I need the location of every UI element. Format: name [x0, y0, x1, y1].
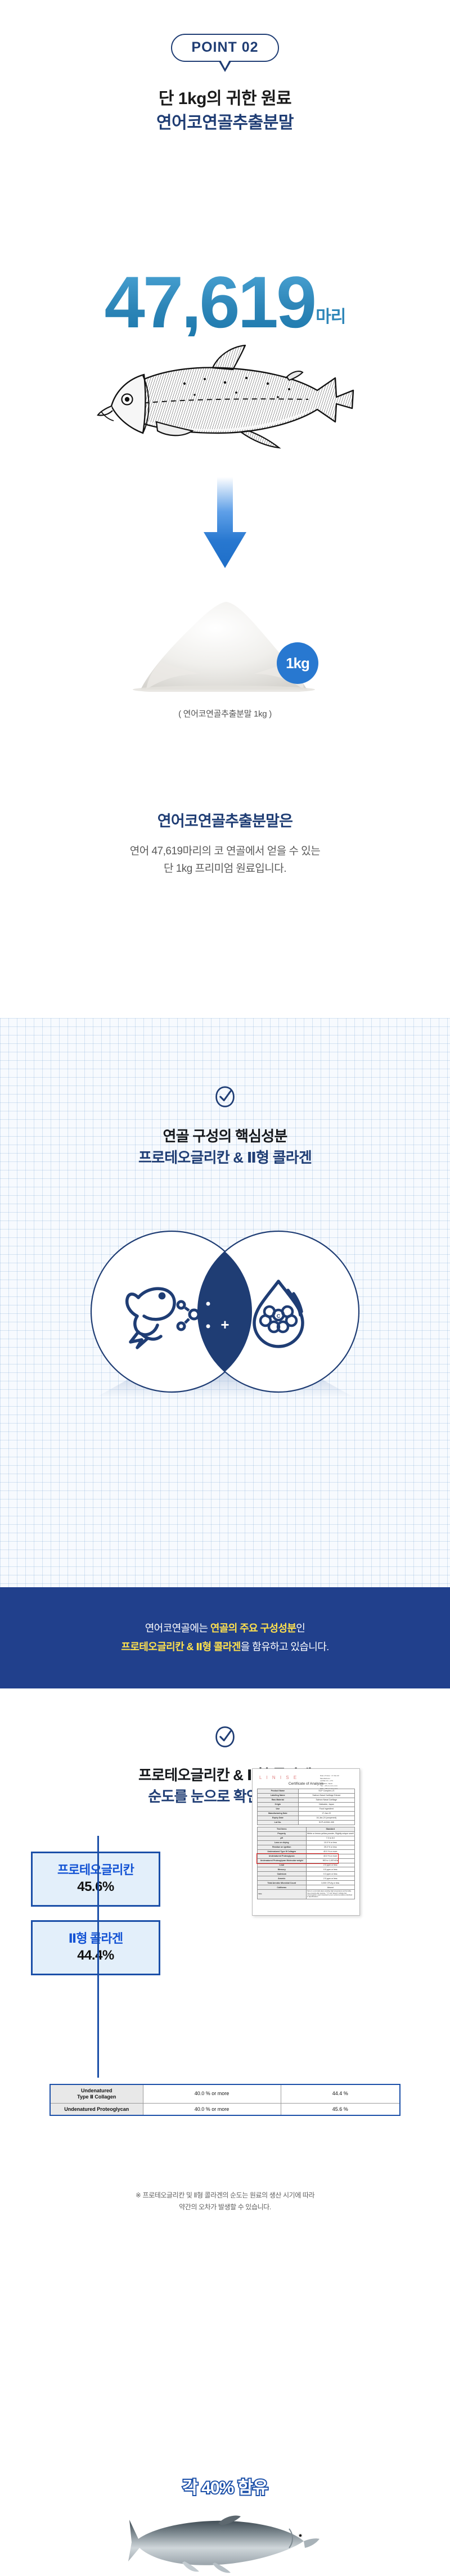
coa-key: Residue on ignition	[258, 1845, 307, 1849]
coa-val: 40.0 % or more	[306, 1849, 355, 1854]
table-row: Lead2.0 ppm or less	[258, 1863, 355, 1867]
venn-plus-sign: +	[220, 1316, 229, 1333]
coa-key: Loss on drying	[258, 1840, 307, 1845]
salmon-illustration-icon	[72, 343, 387, 456]
detail-standard: 40.0 % or more	[143, 2103, 281, 2115]
table-row-highlight: Undenatured Type Ⅱ Collagen40.0 % or mor…	[258, 1849, 355, 1854]
core-ingredients-heading: 연골 구성의 핵심성분 프로테오글리칸 & Ⅱ형 콜라겐	[0, 1018, 450, 1168]
callout-connector-line	[97, 1836, 99, 2078]
coa-val: 25.0 % or less	[306, 1845, 355, 1849]
coa-th-item: Test Items	[258, 1827, 307, 1831]
coa-val: Food ingredient	[298, 1807, 354, 1811]
coa-key: Raw Material	[258, 1798, 299, 1802]
table-row: Lot No.SCP-AO061-005	[258, 1820, 355, 1825]
down-arrow-icon	[201, 477, 249, 569]
coa-val: 17-Jan-22	[298, 1811, 354, 1816]
table-row: PropertyWhite or lemon-yellow powder, Sl…	[258, 1831, 355, 1836]
table-row: Expiry Date16-Jan-24 (unopened)	[258, 1816, 355, 1820]
closing-line-1: 연어 47,619마리의 코 연골에서 얻을 수 있는	[0, 843, 450, 861]
coa-key: Product Name	[258, 1789, 299, 1794]
coa-info-table: Product NameSCP Complex-LS Labeling Name…	[257, 1789, 355, 1825]
certificate-of-analysis-card: L I N I S E Certificate of Analysis Date…	[252, 1768, 360, 1916]
big-number-unit: 마리	[316, 303, 345, 336]
stat-value: 44.4%	[77, 1948, 114, 1963]
banner-text-c: 인	[296, 1623, 305, 1634]
headline-line-2: 연어코연골추출분말	[0, 111, 450, 136]
table-row: Labeling NameSalmon Nasal Cartilage Extr…	[258, 1793, 355, 1798]
core-heading-line-2: 프로테오글리칸 & Ⅱ형 콜라겐	[0, 1147, 450, 1169]
salmon-photo	[128, 2509, 322, 2576]
stat-title: 프로테오글리칸	[57, 1863, 134, 1877]
table-row: ColiformsAbsent	[258, 1885, 355, 1890]
coa-key: Note	[258, 1890, 307, 1899]
coa-key: Lead	[258, 1863, 307, 1867]
banner-line-2: 프로테오글리칸 & Ⅱ형 콜라겐을 함유하고 있습니다.	[121, 1638, 328, 1656]
kg-badge: 1kg	[277, 642, 318, 684]
point-badge: POINT 02	[171, 34, 278, 62]
table-row: pH7.0 to 8.0	[258, 1836, 355, 1840]
coa-key: Use	[258, 1807, 299, 1811]
powder-caption: ( 연어코연골추출분말 1kg )	[0, 708, 450, 719]
coa-key: Total Aerobic Microbial Count	[258, 1881, 307, 1885]
table-row: Undenatured Proteoglycan Molecular weigh…	[258, 1858, 355, 1863]
navy-banner: 연어코연골에는 연골의 주요 구성성분인 프로테오글리칸 & Ⅱ형 콜라겐을 함…	[0, 1587, 450, 1688]
closing-line-2: 단 1kg 프리미엄 원료입니다.	[0, 861, 450, 878]
coa-val: 0.5 ppm or less	[306, 1867, 355, 1872]
coa-val: SCP-AO061-005	[298, 1820, 354, 1825]
detail-item: Undenatured Type Ⅱ Collagen	[50, 2084, 143, 2103]
coa-val: Hokkaido, Japan	[298, 1802, 354, 1807]
stat-value: 45.6%	[77, 1879, 114, 1895]
table-row: Undenatured Proteoglycan 40.0 % or more …	[50, 2103, 400, 2115]
coa-val: Salmon Nasal Cartilage Extract	[298, 1793, 354, 1798]
table-row-note: NoteStore in a cool dark place avoiding …	[258, 1890, 355, 1899]
purity-section: 프로테오글리칸 & Ⅱ형 콜라겐 순도를 눈으로 확인하세요. 프로테오글리칸 …	[0, 1688, 450, 2453]
check-circle-icon	[214, 1086, 236, 1108]
detail-result: 44.4 %	[281, 2084, 400, 2103]
banner-text-d: 을 함유하고 있습니다.	[241, 1641, 329, 1652]
coa-val: 2.0 ppm or less	[306, 1876, 355, 1881]
table-row: Arsenic2.0 ppm or less	[258, 1876, 355, 1881]
coa-key: Lot No.	[258, 1820, 299, 1825]
banner-text-a: 연어코연골에는	[145, 1623, 210, 1634]
coa-key: Labeling Name	[258, 1793, 299, 1798]
coa-val: 3,000 CFU/g or less	[306, 1881, 355, 1885]
coa-key: Origin	[258, 1802, 299, 1807]
purity-heading: 프로테오글리칸 & Ⅱ형 콜라겐 순도를 눈으로 확인하세요.	[0, 1688, 450, 1807]
powder-pile-image	[0, 595, 450, 692]
footnote: ※ 프로테오글리칸 및 Ⅱ형 콜라겐의 순도는 원료의 생산 시기에 따라 약간…	[0, 2190, 450, 2213]
point-02-section: POINT 02 단 1kg의 귀한 원료 연어코연골추출분말 47,619 마…	[0, 0, 450, 1018]
table-row-highlight: Undenatured Proteoglycan40.0 % or more	[258, 1854, 355, 1858]
coa-val: 7.0 to 8.0	[306, 1836, 355, 1840]
coa-key: Expiry Date	[258, 1816, 299, 1820]
stat-title: Ⅱ형 콜라겐	[69, 1932, 123, 1945]
table-row: OriginHokkaido, Japan	[258, 1802, 355, 1807]
table-row: Mercury0.5 ppm or less	[258, 1867, 355, 1872]
coa-test-table: Test ItemsStandard PropertyWhite or lemo…	[257, 1827, 355, 1899]
table-row: Loss on drying10.0 % or less	[258, 1840, 355, 1845]
coa-key: Undenatured Proteoglycan	[258, 1854, 307, 1858]
footnote-line-1: ※ 프로테오글리칸 및 Ⅱ형 콜라겐의 순도는 원료의 생산 시기에 따라	[0, 2190, 450, 2201]
core-heading-line-1: 연골 구성의 핵심성분	[0, 1126, 450, 1147]
banner-highlight-1: 연골의 주요 구성성분	[210, 1623, 296, 1634]
big-number-group: 47,619 마리	[0, 269, 450, 336]
big-number-value: 47,619	[105, 269, 315, 336]
table-row: Residue on ignition25.0 % or less	[258, 1845, 355, 1849]
purity-heading-line-2: 순도를 눈으로 확인하세요.	[0, 1786, 450, 1808]
coa-val: Store in a cool dark place avoiding high…	[306, 1890, 355, 1899]
table-row: UseFood ingredient	[258, 1807, 355, 1811]
check-circle-icon	[214, 1726, 236, 1748]
closing-title: 연어코연골추출분말은	[0, 809, 450, 831]
coa-val: 10.0 % or less	[306, 1840, 355, 1845]
coa-meta: Date of Issue : 17-Jan-22 Manufacturer :…	[320, 1775, 355, 1790]
coa-val: 900 to 1,400 kDa	[306, 1858, 355, 1863]
coa-key: Cadmium	[258, 1872, 307, 1876]
coa-val: 2.0 ppm or less	[306, 1863, 355, 1867]
footnote-line-2: 약간의 오차가 발생할 수 있습니다.	[0, 2201, 450, 2213]
page-title: 단 1kg의 귀한 원료 연어코연골추출분말	[0, 87, 450, 135]
venn-diagram: +	[0, 1227, 450, 1396]
banner-line-1: 연어코연골에는 연골의 주요 구성성분인	[145, 1619, 305, 1638]
table-row: Cadmium0.3 ppm or less	[258, 1872, 355, 1876]
percent-ribbon: 각 40% 함유	[0, 2474, 450, 2498]
point-badge-group: POINT 02	[0, 34, 450, 72]
coa-key: Mercury	[258, 1867, 307, 1872]
headline-line-1: 단 1kg의 귀한 원료	[0, 87, 450, 111]
coa-key: Arsenic	[258, 1876, 307, 1881]
detail-standard: 40.0 % or more	[143, 2084, 281, 2103]
coa-key: Coliforms	[258, 1885, 307, 1890]
coa-key: Undenatured Type Ⅱ Collagen	[258, 1849, 307, 1854]
core-ingredients-section: 연골 구성의 핵심성분 프로테오글리칸 & Ⅱ형 콜라겐 +	[0, 1018, 450, 1587]
table-header-row: Test ItemsStandard	[258, 1827, 355, 1831]
coa-key: Undenatured Proteoglycan Molecular weigh…	[258, 1858, 307, 1863]
coa-key: pH	[258, 1836, 307, 1840]
closing-copy: 연어코연골추출분말은 연어 47,619마리의 코 연골에서 얻을 수 있는 단…	[0, 809, 450, 878]
detail-item: Undenatured Proteoglycan	[50, 2103, 143, 2115]
table-row: Manufacturing Date17-Jan-22	[258, 1811, 355, 1816]
coa-val: 16-Jan-24 (unopened)	[298, 1816, 354, 1820]
coa-th-standard: Standard	[306, 1827, 355, 1831]
coa-val: Absent	[306, 1885, 355, 1890]
coa-key: Property	[258, 1831, 307, 1836]
coa-val: 40.0 % or more	[306, 1854, 355, 1858]
coa-val: Salmon Nasal Cartilage	[298, 1798, 354, 1802]
stat-card-collagen: Ⅱ형 콜라겐 44.4%	[31, 1920, 160, 1975]
svg-text:C: C	[277, 1313, 281, 1319]
zoom-detail-table: Undenatured Type Ⅱ Collagen 40.0 % or mo…	[49, 2084, 400, 2116]
table-row: Raw MaterialSalmon Nasal Cartilage	[258, 1798, 355, 1802]
detail-result: 45.6 %	[281, 2103, 400, 2115]
coa-val: White or lemon-yellow powder, Slightly u…	[306, 1831, 355, 1836]
banner-highlight-2: 프로테오글리칸 & Ⅱ형 콜라겐	[121, 1641, 240, 1652]
stat-card-proteoglycan: 프로테오글리칸 45.6%	[31, 1852, 160, 1907]
table-row: Total Aerobic Microbial Count3,000 CFU/g…	[258, 1881, 355, 1885]
speech-bubble-tail-icon	[219, 61, 231, 72]
coa-val: 0.3 ppm or less	[306, 1872, 355, 1876]
coa-key: Manufacturing Date	[258, 1811, 299, 1816]
purity-heading-line-1: 프로테오글리칸 & Ⅱ형 콜라겐	[0, 1765, 450, 1786]
table-row: Undenatured Type Ⅱ Collagen 40.0 % or mo…	[50, 2084, 400, 2103]
